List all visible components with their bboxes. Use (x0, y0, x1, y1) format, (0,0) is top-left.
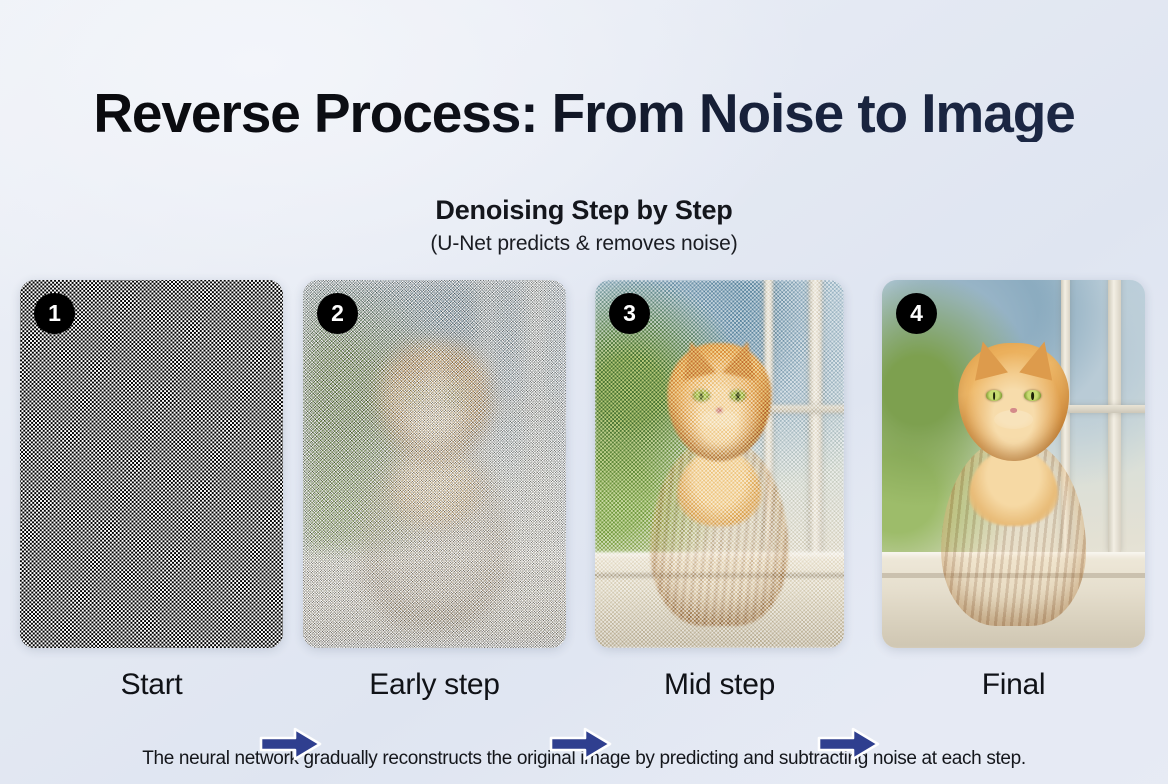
arrow-step-1-to-2 (261, 727, 321, 761)
step-label-start: Start (20, 668, 283, 702)
arrow-step-3-to-4 (819, 727, 879, 761)
step-badge-2: 2 (317, 293, 358, 334)
cat-leg-right (1019, 582, 1047, 629)
noise-canvas-2 (303, 280, 566, 648)
step-badge-1: 1 (34, 293, 75, 334)
cat-legs (979, 582, 1048, 629)
step-label-early-step: Early step (303, 668, 566, 702)
cat-muzzle (994, 410, 1034, 429)
cat-eye-left (986, 390, 1003, 401)
arrow-step-2-to-3 (551, 727, 611, 761)
page-title: Reverse Process: From Noise to Image (0, 85, 1168, 142)
cat-head (958, 343, 1068, 461)
subtitle-primary: Denoising Step by Step (0, 195, 1168, 226)
step-badge-3: 3 (609, 293, 650, 334)
denoising-sequence: 1 (0, 280, 1168, 650)
step-badge-4: 4 (896, 293, 937, 334)
cat-ear-left (967, 337, 1009, 380)
step-panel-start[interactable]: 1 (20, 280, 283, 648)
cat-leg-left (980, 582, 1008, 629)
cat-window-scene (882, 280, 1145, 648)
noise-texture (20, 280, 283, 648)
window-frame (1108, 280, 1121, 552)
noise-canvas-1 (20, 280, 283, 648)
noise-texture-fine (303, 280, 566, 648)
cat-ear-right (1019, 337, 1061, 380)
step-label-final: Final (882, 668, 1145, 702)
step-panel-early[interactable]: 2 (303, 280, 566, 648)
step-labels: Start Early step Mid step Final (0, 668, 1168, 714)
image-canvas-4 (882, 280, 1145, 648)
subtitle-block: Denoising Step by Step (U-Net predicts &… (0, 195, 1168, 256)
subtitle-secondary: (U-Net predicts & removes noise) (0, 232, 1168, 256)
step-panel-final[interactable]: 4 (882, 280, 1145, 648)
cat-figure (935, 332, 1093, 626)
noise-texture-fine (595, 280, 844, 648)
noise-canvas-3 (595, 280, 844, 648)
step-label-mid-step: Mid step (595, 668, 844, 702)
step-panel-mid[interactable]: 3 (595, 280, 844, 648)
cat-eye-right (1025, 390, 1042, 401)
